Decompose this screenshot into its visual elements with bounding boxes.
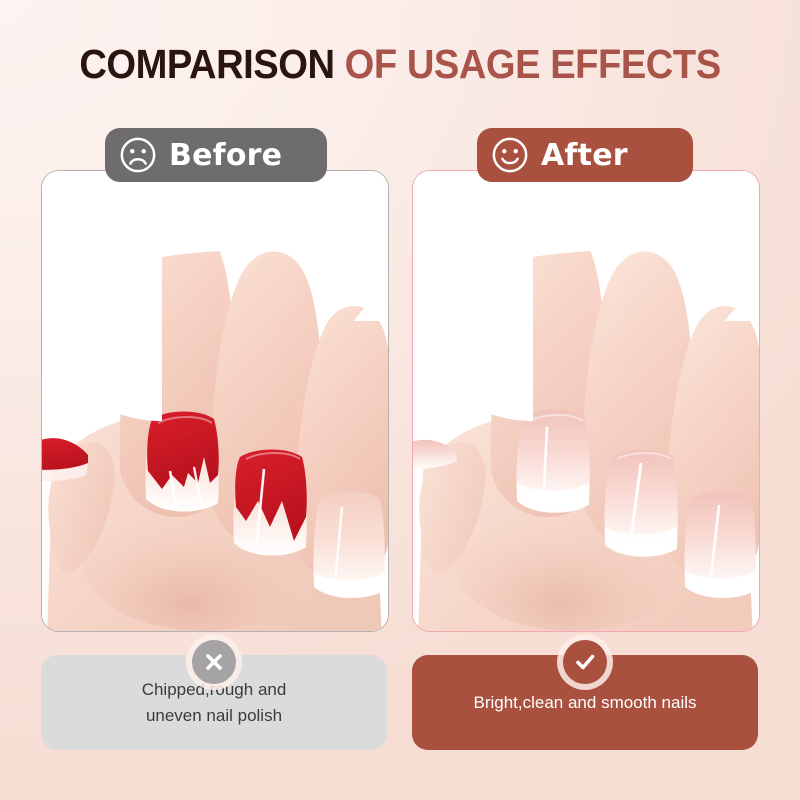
before-hand-illustration bbox=[42, 171, 388, 631]
check-circle-icon bbox=[563, 640, 607, 684]
before-photo bbox=[42, 171, 388, 631]
after-photo bbox=[413, 171, 759, 631]
comparison-infographic: COMPARISON OF USAGE EFFECTS bbox=[0, 0, 800, 800]
cross-circle-icon bbox=[192, 640, 236, 684]
before-image-card bbox=[41, 170, 389, 632]
cross-glyph bbox=[201, 649, 227, 675]
page-title-part-2: OF USAGE EFFECTS bbox=[345, 41, 721, 87]
check-glyph bbox=[571, 648, 599, 676]
after-hand-illustration bbox=[413, 171, 759, 631]
page-title-part-1: COMPARISON bbox=[79, 41, 344, 87]
before-badge[interactable]: Before bbox=[105, 128, 327, 182]
after-caption-text: Bright,clean and smooth nails bbox=[473, 690, 696, 716]
after-image-card bbox=[412, 170, 760, 632]
before-badge-label: Before bbox=[169, 138, 282, 173]
happy-face-icon bbox=[491, 136, 529, 174]
after-badge[interactable]: After bbox=[477, 128, 693, 182]
page-title: COMPARISON OF USAGE EFFECTS bbox=[28, 38, 772, 90]
sad-face-icon bbox=[119, 136, 157, 174]
after-badge-label: After bbox=[541, 138, 628, 173]
before-caption-text: Chipped,rough anduneven nail polish bbox=[142, 677, 287, 729]
